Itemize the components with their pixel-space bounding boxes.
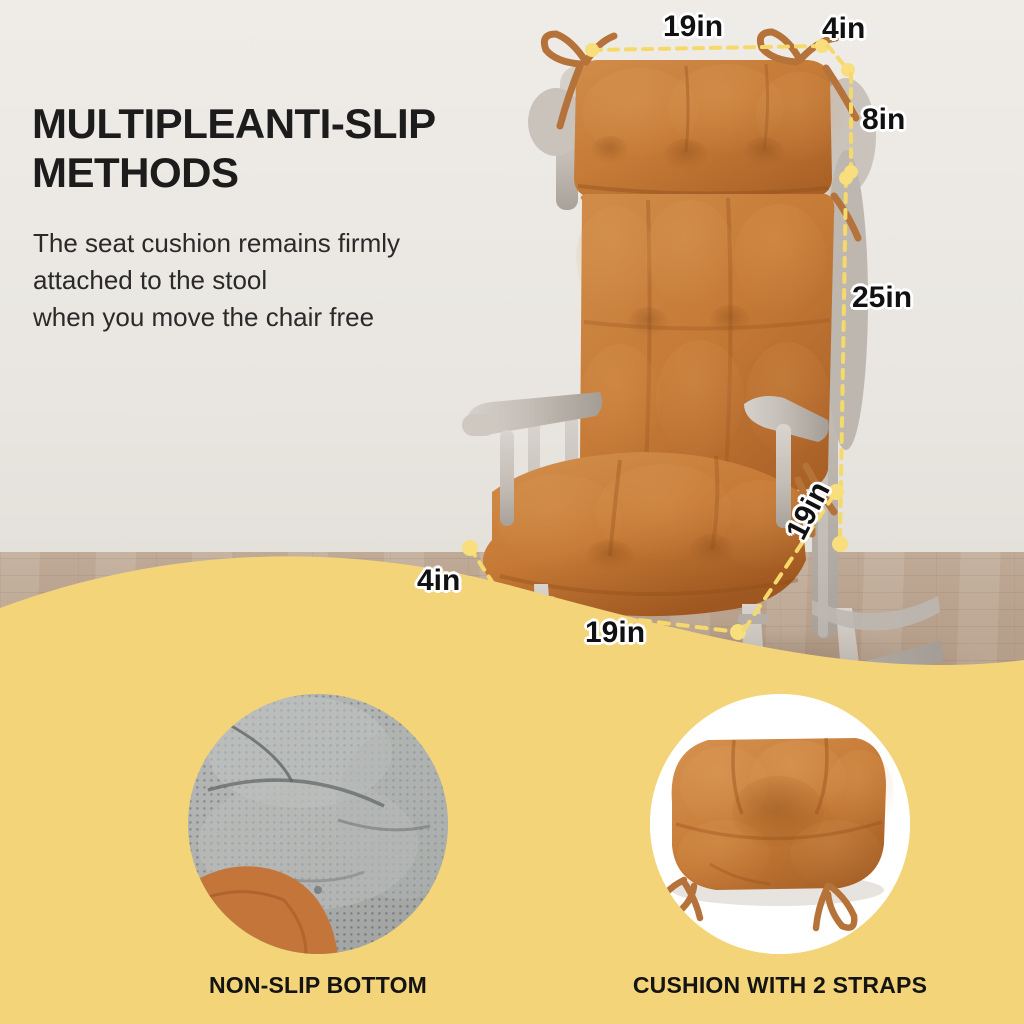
dimension-label-back-width-top: 19in xyxy=(663,10,723,44)
back-cushion-main xyxy=(576,194,834,490)
subcopy-line-1: The seat cushion remains firmly xyxy=(33,225,533,262)
dimension-label-seat-depth: 19in xyxy=(585,616,645,650)
product-infographic: MULTIPLEANTI-SLIP METHODS The seat cushi… xyxy=(0,0,1024,1024)
subcopy-line-2: attached to the stool xyxy=(33,262,533,299)
dimension-label-back-thickness: 4in xyxy=(822,12,865,46)
back-cushion-upper xyxy=(574,60,844,198)
inset-cushion-with-straps xyxy=(650,694,910,954)
subcopy-line-3: when you move the chair free xyxy=(33,299,533,336)
non-slip-bottom-image xyxy=(188,694,448,954)
dimension-label-back-height: 25in xyxy=(852,281,912,315)
caption-cushion-straps: CUSHION WITH 2 STRAPS xyxy=(630,972,930,999)
dimension-label-seat-thickness: 4in xyxy=(417,564,460,598)
dimension-label-headrest-height: 8in xyxy=(862,103,905,137)
inset-non-slip-bottom xyxy=(188,694,448,954)
page-subcopy: The seat cushion remains firmly attached… xyxy=(33,225,533,336)
caption-non-slip-bottom: NON-SLIP BOTTOM xyxy=(168,972,468,999)
page-title: MULTIPLEANTI-SLIP METHODS xyxy=(32,100,532,197)
cushion-straps-image xyxy=(650,694,910,954)
